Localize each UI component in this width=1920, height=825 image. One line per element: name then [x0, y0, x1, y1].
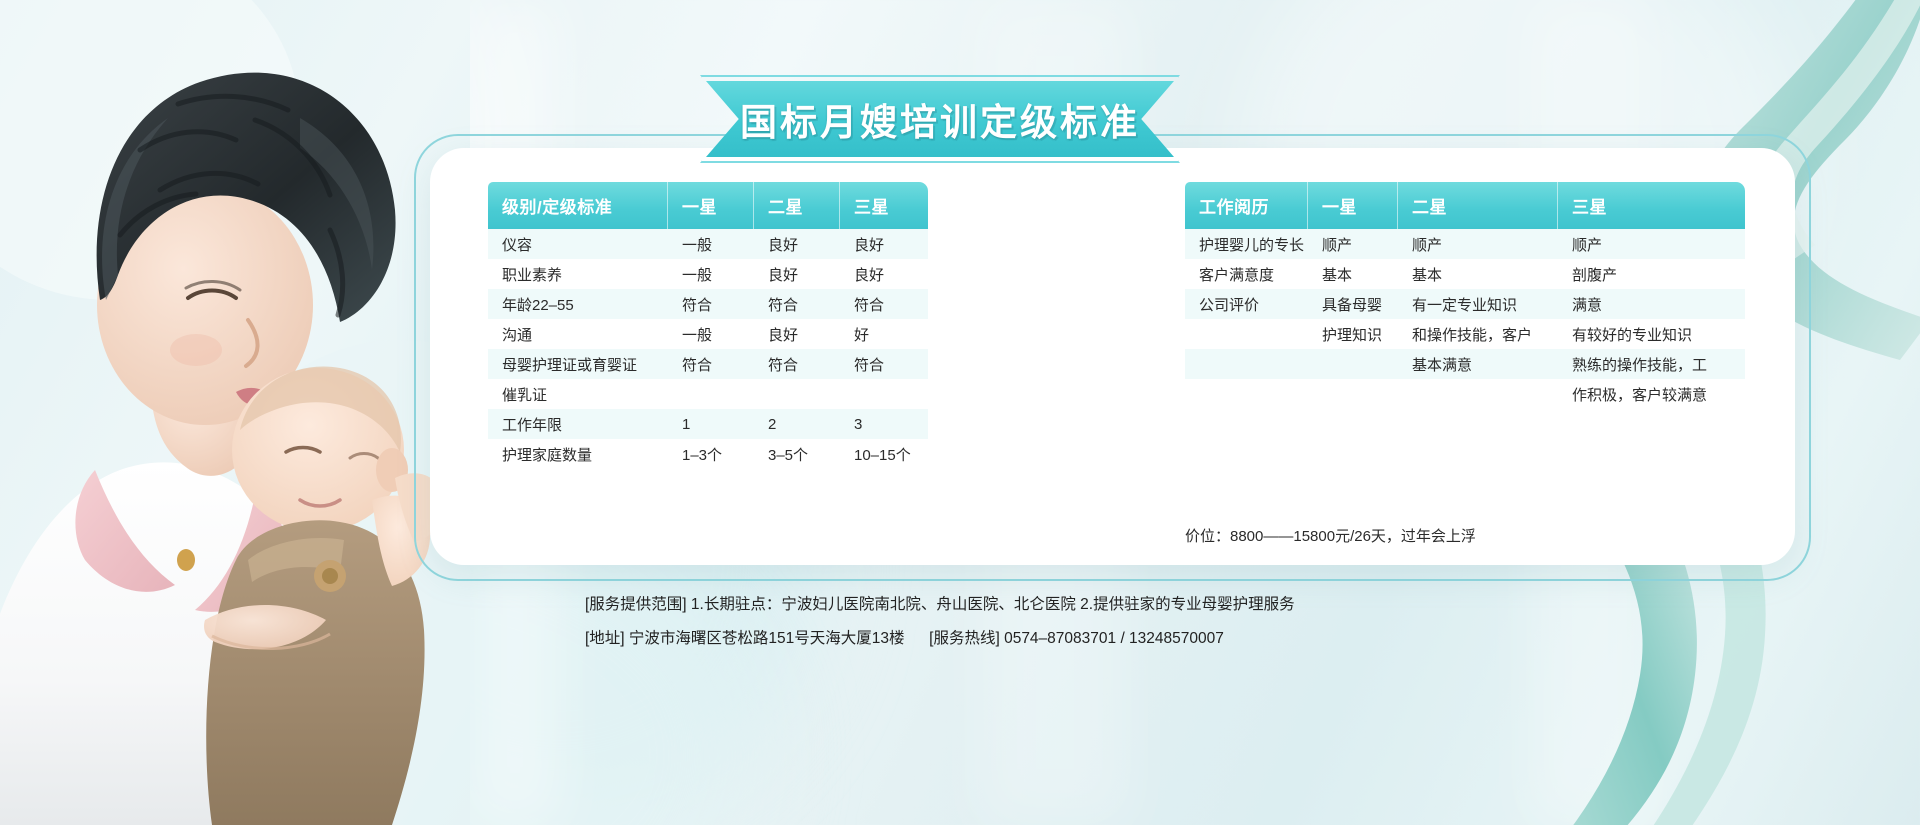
- cell-three-star: 符合: [840, 349, 928, 379]
- cell-one-star: 一般: [668, 229, 754, 259]
- cell-criteria: 催乳证: [488, 379, 668, 409]
- col-header-criteria: 级别/定级标准: [488, 182, 668, 229]
- cell-experience: 客户满意度: [1185, 259, 1308, 289]
- cell-two-star: [754, 379, 840, 409]
- cell-three-star: 有较好的专业知识: [1558, 319, 1745, 349]
- col-header-one-star: 一星: [1308, 182, 1398, 229]
- cell-two-star: 基本满意: [1398, 349, 1558, 379]
- table-header-row: 工作阅历 一星 二星 三星: [1185, 182, 1745, 229]
- cell-two-star: 3–5个: [754, 439, 840, 469]
- cell-three-star: 满意: [1558, 289, 1745, 319]
- cell-one-star: 基本: [1308, 259, 1398, 289]
- table-row: 工作年限 1 2 3: [488, 409, 928, 439]
- cell-criteria: 仪容: [488, 229, 668, 259]
- table-row: 公司评价 具备母婴 有一定专业知识 满意: [1185, 289, 1745, 319]
- cell-experience: [1185, 349, 1308, 379]
- table-row: 沟通 一般 良好 好: [488, 319, 928, 349]
- table-row: 基本满意 熟练的操作技能，工: [1185, 349, 1745, 379]
- cell-three-star: 顺产: [1558, 229, 1745, 259]
- col-header-one-star: 一星: [668, 182, 754, 229]
- table-row: 客户满意度 基本 基本 剖腹产: [1185, 259, 1745, 289]
- cell-three-star: 良好: [840, 229, 928, 259]
- cell-criteria: 沟通: [488, 319, 668, 349]
- service-scope-line: [服务提供范围] 1.长期驻点：宁波妇儿医院南北院、舟山医院、北仑医院 2.提供…: [585, 588, 1785, 622]
- cell-two-star: 基本: [1398, 259, 1558, 289]
- cell-criteria: 年龄22–55: [488, 289, 668, 319]
- cell-three-star: 符合: [840, 289, 928, 319]
- table-row: 职业素养 一般 良好 良好: [488, 259, 928, 289]
- col-header-two-star: 二星: [1398, 182, 1558, 229]
- cell-two-star: 和操作技能，客户: [1398, 319, 1558, 349]
- price-note: 价位：8800——15800元/26天，过年会上浮: [1185, 525, 1745, 546]
- cell-one-star: 1–3个: [668, 439, 754, 469]
- table-row: 护理家庭数量 1–3个 3–5个 10–15个: [488, 439, 928, 469]
- cell-two-star: 符合: [754, 349, 840, 379]
- cell-two-star: 顺产: [1398, 229, 1558, 259]
- cell-one-star: 顺产: [1308, 229, 1398, 259]
- footer-info: [服务提供范围] 1.长期驻点：宁波妇儿医院南北院、舟山医院、北仑医院 2.提供…: [585, 588, 1785, 656]
- cell-two-star: 良好: [754, 319, 840, 349]
- cell-criteria: 母婴护理证或育婴证: [488, 349, 668, 379]
- table-row: 作积极，客户较满意: [1185, 379, 1745, 409]
- cell-one-star: 一般: [668, 259, 754, 289]
- cell-one-star: 具备母婴: [1308, 289, 1398, 319]
- hotline-text: [服务热线] 0574–87083701 / 13248570007: [929, 630, 1224, 647]
- cell-criteria: 工作年限: [488, 409, 668, 439]
- address-hotline-line: [地址] 宁波市海曙区苍松路151号天海大厦13楼 [服务热线] 0574–87…: [585, 622, 1785, 656]
- cell-criteria: 护理家庭数量: [488, 439, 668, 469]
- page-title: 国标月嫂培训定级标准: [740, 92, 1140, 146]
- cell-experience: [1185, 379, 1308, 409]
- cell-three-star: 剖腹产: [1558, 259, 1745, 289]
- cell-three-star: 良好: [840, 259, 928, 289]
- table-row: 护理婴儿的专长 顺产 顺产 顺产: [1185, 229, 1745, 259]
- table-row: 催乳证: [488, 379, 928, 409]
- cell-two-star: 符合: [754, 289, 840, 319]
- cell-one-star: 一般: [668, 319, 754, 349]
- cell-two-star: 良好: [754, 229, 840, 259]
- cell-three-star: 熟练的操作技能，工: [1558, 349, 1745, 379]
- cell-one-star: [1308, 379, 1398, 409]
- table-row: 护理知识 和操作技能，客户 有较好的专业知识: [1185, 319, 1745, 349]
- table-row: 年龄22–55 符合 符合 符合: [488, 289, 928, 319]
- cell-one-star: 护理知识: [1308, 319, 1398, 349]
- col-header-three-star: 三星: [1558, 182, 1745, 229]
- col-header-two-star: 二星: [754, 182, 840, 229]
- address-text: [地址] 宁波市海曙区苍松路151号天海大厦13楼: [585, 630, 905, 647]
- cell-three-star: 好: [840, 319, 928, 349]
- cell-two-star: 2: [754, 409, 840, 439]
- col-header-three-star: 三星: [840, 182, 928, 229]
- cell-three-star: 作积极，客户较满意: [1558, 379, 1745, 409]
- table-header-row: 级别/定级标准 一星 二星 三星: [488, 182, 928, 229]
- col-header-experience: 工作阅历: [1185, 182, 1308, 229]
- cell-three-star: 3: [840, 409, 928, 439]
- cell-one-star: 1: [668, 409, 754, 439]
- title-banner: 国标月嫂培训定级标准: [706, 81, 1174, 157]
- cell-one-star: 符合: [668, 349, 754, 379]
- cell-two-star: [1398, 379, 1558, 409]
- table-row: 仪容 一般 良好 良好: [488, 229, 928, 259]
- cell-two-star: 有一定专业知识: [1398, 289, 1558, 319]
- work-experience-table: 工作阅历 一星 二星 三星 护理婴儿的专长 顺产 顺产 顺产 客户满意度 基本 …: [1185, 182, 1745, 409]
- cell-criteria: 职业素养: [488, 259, 668, 289]
- cell-experience: 护理婴儿的专长: [1185, 229, 1308, 259]
- cell-one-star: [668, 379, 754, 409]
- cell-three-star: 10–15个: [840, 439, 928, 469]
- caregiver-baby-photo: [0, 0, 470, 825]
- cell-three-star: [840, 379, 928, 409]
- cell-one-star: 符合: [668, 289, 754, 319]
- cell-experience: [1185, 319, 1308, 349]
- table-row: 母婴护理证或育婴证 符合 符合 符合: [488, 349, 928, 379]
- grading-standards-table: 级别/定级标准 一星 二星 三星 仪容 一般 良好 良好 职业素养 一般 良好 …: [488, 182, 928, 469]
- cell-two-star: 良好: [754, 259, 840, 289]
- cell-one-star: [1308, 349, 1398, 379]
- cell-experience: 公司评价: [1185, 289, 1308, 319]
